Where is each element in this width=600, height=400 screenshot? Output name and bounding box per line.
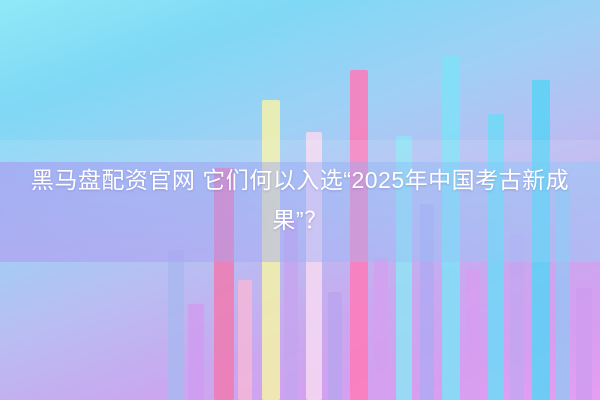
promo-banner: 黑马盘配资官网 它们何以入选“2025年中国考古新成果”？ (0, 0, 600, 400)
banner-headline: 黑马盘配资官网 它们何以入选“2025年中国考古新成果”？ (20, 160, 580, 240)
headline-container: 黑马盘配资官网 它们何以入选“2025年中国考古新成果”？ (0, 0, 600, 400)
